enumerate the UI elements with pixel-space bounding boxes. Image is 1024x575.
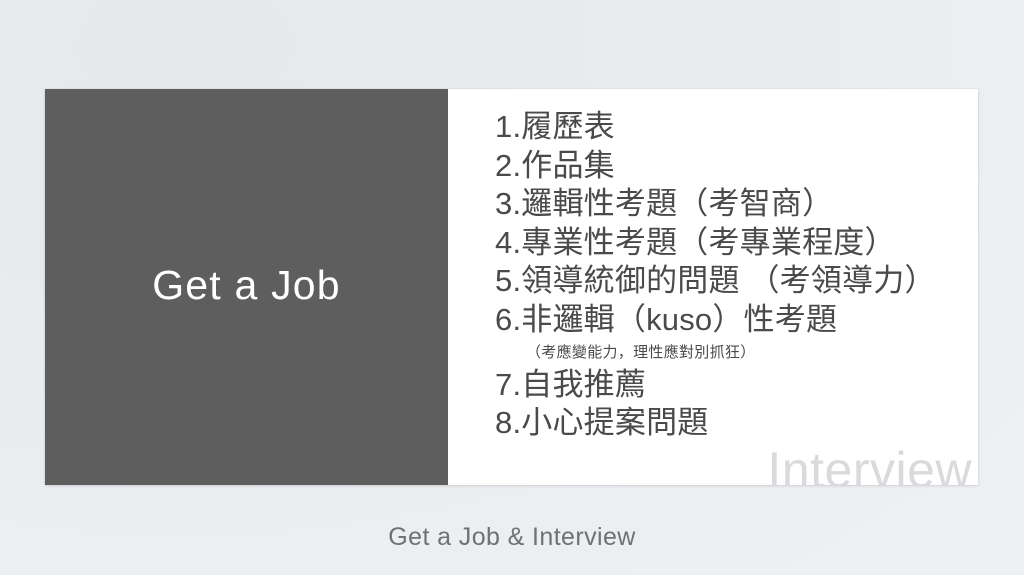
list-item-label: 履歷表 (521, 108, 615, 147)
list-item-number: 7. (495, 366, 521, 405)
checklist: 1. 履歷表 2. 作品集 3. 邏輯性考題（考智商） 4. 專業性考題（考專業… (495, 108, 936, 443)
list-item: 1. 履歷表 (495, 108, 936, 147)
list-item-subnote-row: （考應變能力，理性應對別抓狂） (495, 340, 936, 366)
list-item-number: 3. (495, 185, 521, 224)
list-item: 4. 專業性考題（考專業程度） (495, 224, 936, 263)
list-item-number: 4. (495, 224, 521, 263)
list-item-label: 作品集 (521, 147, 615, 186)
slide-title-panel: Get a Job (45, 89, 448, 485)
list-item: 8. 小心提案問題 (495, 404, 936, 443)
list-item-number: 8. (495, 404, 521, 443)
list-item: 2. 作品集 (495, 147, 936, 186)
list-item-label: 邏輯性考題（考智商） (521, 185, 833, 224)
list-item-number: 5. (495, 262, 521, 301)
slide-viewer: Get a Job 1. 履歷表 2. 作品集 3. 邏輯性考題（考智商） 4. (0, 0, 1024, 575)
list-item-number: 1. (495, 108, 521, 147)
list-item-label: 小心提案問題 (521, 404, 708, 443)
list-item: 6. 非邏輯（kuso）性考題 (495, 301, 936, 340)
list-item-subnote: （考應變能力，理性應對別抓狂） (495, 340, 936, 366)
list-item: 7. 自我推薦 (495, 366, 936, 405)
slide-card: Get a Job 1. 履歷表 2. 作品集 3. 邏輯性考題（考智商） 4. (45, 89, 978, 485)
list-item: 5. 領導統御的問題 （考領導力） (495, 262, 936, 301)
list-item-label: 非邏輯（kuso）性考題 (521, 301, 837, 340)
list-item-number: 6. (495, 301, 521, 340)
watermark-text: Interview (767, 445, 972, 485)
slide-content-panel: 1. 履歷表 2. 作品集 3. 邏輯性考題（考智商） 4. 專業性考題（考專業… (448, 89, 978, 485)
slide-title: Get a Job (152, 265, 341, 306)
list-item-label: 專業性考題（考專業程度） (521, 224, 895, 263)
list-item-label: 領導統御的問題 （考領導力） (521, 262, 935, 301)
slide-caption: Get a Job & Interview (0, 522, 1024, 553)
list-item-number: 2. (495, 147, 521, 186)
list-item: 3. 邏輯性考題（考智商） (495, 185, 936, 224)
list-item-label: 自我推薦 (521, 366, 646, 405)
